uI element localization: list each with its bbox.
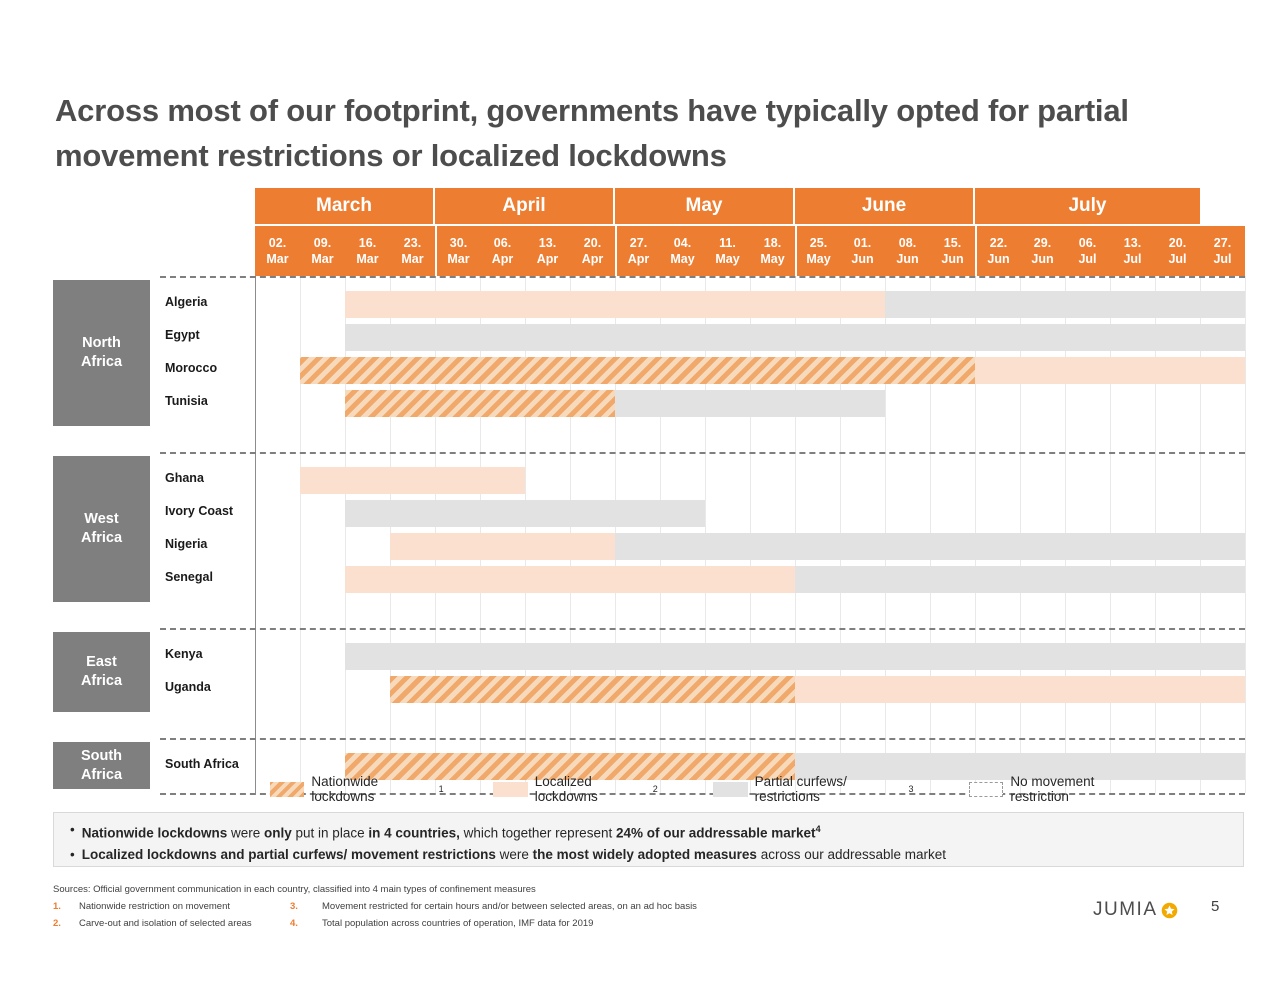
week-month: Apr xyxy=(492,251,514,267)
group-divider xyxy=(160,628,1245,630)
week-month: Jun xyxy=(941,251,963,267)
table-row xyxy=(255,464,1245,497)
table-row xyxy=(255,354,1245,387)
month-header-july: July xyxy=(975,188,1200,224)
bullet-text: Nationwide lockdowns were only put in pl… xyxy=(82,819,821,844)
bar-segment-localized xyxy=(345,291,885,318)
footnote-number: 3. xyxy=(290,899,322,914)
week-header-11-May: 11.May xyxy=(705,226,750,276)
table-row xyxy=(255,563,1245,596)
week-day: 13. xyxy=(539,235,556,251)
bar-segment-partial xyxy=(345,324,1245,351)
week-day: 27. xyxy=(1214,235,1231,251)
week-header-06-Apr: 06.Apr xyxy=(480,226,525,276)
week-day: 15. xyxy=(944,235,961,251)
footnote-text: Movement restricted for certain hours an… xyxy=(322,901,697,912)
group-divider xyxy=(160,276,1245,278)
week-month: May xyxy=(806,251,830,267)
week-month: May xyxy=(670,251,694,267)
page-title: Across most of our footprint, government… xyxy=(55,88,1235,178)
week-header-15-Jun: 15.Jun xyxy=(930,226,975,276)
week-header-18-May: 18.May xyxy=(750,226,795,276)
week-day: 23. xyxy=(404,235,421,251)
legend-item-none: No movement restriction xyxy=(969,774,1150,804)
footnote-2: 2.Carve-out and isolation of selected ar… xyxy=(53,916,252,931)
table-row xyxy=(255,288,1245,321)
table-row xyxy=(255,640,1245,673)
footnote-text: Carve-out and isolation of selected area… xyxy=(79,918,252,929)
week-day: 16. xyxy=(359,235,376,251)
sources-line: Sources: Official government communicati… xyxy=(53,884,536,895)
table-row xyxy=(255,530,1245,563)
footnote-1: 1.Nationwide restriction on movement xyxy=(53,899,230,914)
week-month: Mar xyxy=(356,251,378,267)
footnote-number: 1. xyxy=(53,899,79,914)
week-header-27-Jul: 27.Jul xyxy=(1200,226,1245,276)
week-header-23-Mar: 23.Mar xyxy=(390,226,435,276)
week-day: 20. xyxy=(1169,235,1186,251)
jumia-star-icon xyxy=(1161,902,1178,919)
country-label-algeria: Algeria xyxy=(165,295,207,309)
footnote-4: 4.Total population across countries of o… xyxy=(290,916,593,931)
bullet-marker: • xyxy=(70,819,75,840)
week-month: Mar xyxy=(266,251,288,267)
week-header-29-Jun: 29.Jun xyxy=(1020,226,1065,276)
week-month: Jun xyxy=(896,251,918,267)
region-label: NorthAfrica xyxy=(81,334,122,372)
group-divider xyxy=(160,738,1245,740)
legend-swatch-localized xyxy=(493,782,527,797)
legend-swatch-partial xyxy=(713,782,747,797)
week-header-04-May: 04.May xyxy=(660,226,705,276)
table-row xyxy=(255,321,1245,354)
week-month: May xyxy=(715,251,739,267)
country-label-uganda: Uganda xyxy=(165,680,211,694)
region-label: EastAfrica xyxy=(81,653,122,691)
region-block-east-africa: EastAfrica xyxy=(53,632,150,712)
country-label-kenya: Kenya xyxy=(165,647,203,661)
region-block-north-africa: NorthAfrica xyxy=(53,280,150,426)
bar-segment-nationwide xyxy=(390,676,795,703)
week-day: 25. xyxy=(810,235,827,251)
week-month: Jul xyxy=(1123,251,1141,267)
week-header-20-Jul: 20.Jul xyxy=(1155,226,1200,276)
week-month: Mar xyxy=(447,251,469,267)
bar-segment-nationwide xyxy=(345,390,615,417)
week-month: Jul xyxy=(1078,251,1096,267)
page-number: 5 xyxy=(1211,898,1219,915)
week-month: Jul xyxy=(1168,251,1186,267)
week-month: Apr xyxy=(582,251,604,267)
month-header-april: April xyxy=(435,188,615,224)
week-header-09-Mar: 09.Mar xyxy=(300,226,345,276)
week-month: Jun xyxy=(987,251,1009,267)
country-label-morocco: Morocco xyxy=(165,361,217,375)
week-day: 09. xyxy=(314,235,331,251)
group-divider xyxy=(160,452,1245,454)
bar-segment-localized xyxy=(390,533,615,560)
month-header-row: MarchAprilMayJuneJuly xyxy=(255,188,1245,224)
week-month: Jun xyxy=(851,251,873,267)
week-day: 11. xyxy=(719,235,736,251)
bar-segment-partial xyxy=(885,291,1245,318)
week-day: 01. xyxy=(854,235,871,251)
table-row xyxy=(255,673,1245,706)
bar-segment-localized xyxy=(795,676,1245,703)
legend-footnote-ref: 3 xyxy=(908,784,913,794)
week-header-row: 02.Mar09.Mar16.Mar23.Mar30.Mar06.Apr13.A… xyxy=(255,226,1245,276)
footnote-text: Nationwide restriction on movement xyxy=(79,901,230,912)
bar-segment-partial xyxy=(345,643,1245,670)
legend-label: Nationwide lockdowns xyxy=(311,774,438,804)
bullet-marker: • xyxy=(70,844,75,865)
week-month: Jul xyxy=(1213,251,1231,267)
week-header-30-Mar: 30.Mar xyxy=(435,226,480,276)
week-day: 08. xyxy=(899,235,916,251)
bar-segment-partial xyxy=(795,566,1245,593)
footnote-3: 3.Movement restricted for certain hours … xyxy=(290,899,697,914)
country-label-nigeria: Nigeria xyxy=(165,537,207,551)
week-day: 13. xyxy=(1124,235,1141,251)
week-month: May xyxy=(760,251,784,267)
legend-label: Localized lockdowns xyxy=(535,774,653,804)
bar-segment-partial xyxy=(345,500,705,527)
week-day: 20. xyxy=(584,235,601,251)
legend-item-localized: Localized lockdowns2 xyxy=(493,774,657,804)
week-day: 27. xyxy=(630,235,647,251)
week-day: 04. xyxy=(674,235,691,251)
week-header-06-Jul: 06.Jul xyxy=(1065,226,1110,276)
bar-segment-nationwide xyxy=(300,357,975,384)
legend-footnote-ref: 2 xyxy=(653,784,658,794)
week-header-27-Apr: 27.Apr xyxy=(615,226,660,276)
week-header-08-Jun: 08.Jun xyxy=(885,226,930,276)
week-month: Jun xyxy=(1031,251,1053,267)
week-day: 02. xyxy=(269,235,286,251)
gridline xyxy=(1245,276,1246,793)
country-label-south-africa: South Africa xyxy=(165,757,239,771)
bar-segment-localized xyxy=(300,467,525,494)
week-month: Mar xyxy=(401,251,423,267)
week-day: 06. xyxy=(494,235,511,251)
jumia-wordmark: JUMIA xyxy=(1093,899,1158,921)
chart-legend: Nationwide lockdowns1Localized lockdowns… xyxy=(270,778,1150,800)
country-label-tunisia: Tunisia xyxy=(165,394,208,408)
slide: Across most of our footprint, government… xyxy=(0,0,1280,989)
week-header-22-Jun: 22.Jun xyxy=(975,226,1020,276)
week-header-01-Jun: 01.Jun xyxy=(840,226,885,276)
bar-segment-partial xyxy=(615,533,1245,560)
bar-segment-partial xyxy=(615,390,885,417)
country-label-ghana: Ghana xyxy=(165,471,204,485)
country-label-senegal: Senegal xyxy=(165,570,213,584)
week-header-25-May: 25.May xyxy=(795,226,840,276)
month-header-may: May xyxy=(615,188,795,224)
week-month: Mar xyxy=(311,251,333,267)
week-day: 29. xyxy=(1034,235,1051,251)
month-header-june: June xyxy=(795,188,975,224)
region-label: WestAfrica xyxy=(81,510,122,548)
table-row xyxy=(255,387,1245,420)
bullet-item: •Nationwide lockdowns were only put in p… xyxy=(64,819,1233,844)
week-header-16-Mar: 16.Mar xyxy=(345,226,390,276)
week-day: 06. xyxy=(1079,235,1096,251)
week-day: 30. xyxy=(450,235,467,251)
footnote-text: Total population across countries of ope… xyxy=(322,918,593,929)
week-month: Apr xyxy=(537,251,559,267)
legend-footnote-ref: 1 xyxy=(439,784,444,794)
table-row xyxy=(255,497,1245,530)
week-header-20-Apr: 20.Apr xyxy=(570,226,615,276)
legend-swatch-none xyxy=(969,782,1003,797)
key-takeaways-box: •Nationwide lockdowns were only put in p… xyxy=(53,812,1244,867)
legend-swatch-nationwide xyxy=(270,782,304,797)
country-label-ivory-coast: Ivory Coast xyxy=(165,504,233,518)
timeline-chart: MarchAprilMayJuneJuly 02.Mar09.Mar16.Mar… xyxy=(255,188,1245,276)
bullet-text: Localized lockdowns and partial curfews/… xyxy=(82,844,946,865)
legend-label: No movement restriction xyxy=(1010,774,1150,804)
bullet-item: •Localized lockdowns and partial curfews… xyxy=(64,844,1233,865)
region-label: SouthAfrica xyxy=(81,747,122,785)
footnote-number: 4. xyxy=(290,916,322,931)
footnote-number: 2. xyxy=(53,916,79,931)
jumia-logo: JUMIA xyxy=(1093,899,1178,921)
country-label-egypt: Egypt xyxy=(165,328,200,342)
legend-item-nationwide: Nationwide lockdowns1 xyxy=(270,774,444,804)
week-header-02-Mar: 02.Mar xyxy=(255,226,300,276)
region-block-west-africa: WestAfrica xyxy=(53,456,150,602)
bar-segment-localized xyxy=(345,566,795,593)
region-block-south-africa: SouthAfrica xyxy=(53,742,150,789)
week-day: 18. xyxy=(764,235,781,251)
week-month: Apr xyxy=(628,251,650,267)
week-day: 22. xyxy=(990,235,1007,251)
legend-label: Partial curfews/ restrictions xyxy=(755,774,909,804)
month-header-march: March xyxy=(255,188,435,224)
week-header-13-Apr: 13.Apr xyxy=(525,226,570,276)
week-header-13-Jul: 13.Jul xyxy=(1110,226,1155,276)
bar-segment-localized xyxy=(975,357,1245,384)
legend-item-partial: Partial curfews/ restrictions3 xyxy=(713,774,913,804)
